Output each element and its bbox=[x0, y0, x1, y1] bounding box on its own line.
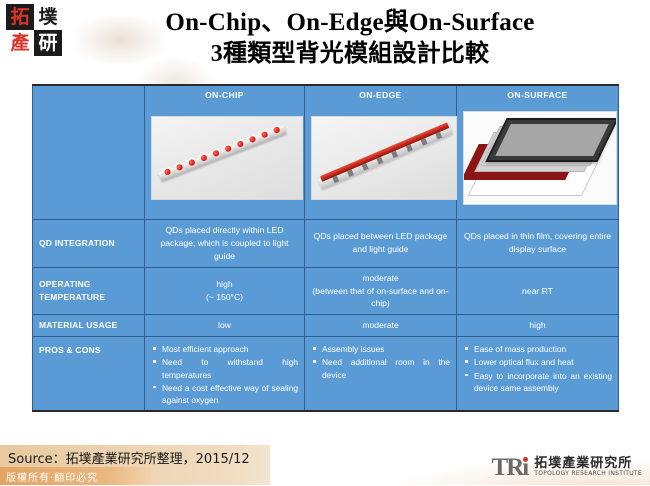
table-row-operating-temperature: OPERATING TEMPERATURE high (~ 150°C) mod… bbox=[33, 267, 619, 315]
table-row-material-usage: MATERIAL USAGE low moderate high bbox=[33, 315, 619, 337]
row-label-operating-temperature: OPERATING TEMPERATURE bbox=[33, 267, 145, 315]
bullet-list-on-surface: Ease of mass productionLower optical flu… bbox=[463, 343, 612, 394]
image-cell-on-chip bbox=[145, 104, 305, 220]
row-label-pros-cons: PROS & CONS bbox=[33, 337, 145, 411]
cell-operating-temperature-on-chip: high (~ 150°C) bbox=[145, 267, 305, 315]
bullet-item: Need a cost effective way of sealing aga… bbox=[151, 382, 298, 406]
image-cell-on-edge bbox=[305, 104, 457, 220]
tri-logo-name-en: TOPOLOGY RESEARCH INSTITUTE bbox=[534, 471, 642, 477]
row-label-qd-integration: QD INTEGRATION bbox=[33, 220, 145, 268]
corner-logo-char-1: 拓 bbox=[6, 4, 34, 30]
page-title-line-2: 3種類型背光模組設計比較 bbox=[70, 39, 630, 71]
bullet-list-on-chip: Most efficient approachNeed to withstand… bbox=[151, 343, 298, 406]
tri-footer-logo: TRi 拓墣產業研究所 TOPOLOGY RESEARCH INSTITUTE bbox=[492, 454, 642, 480]
corner-logo-char-3: 產 bbox=[6, 30, 34, 56]
tri-logo-text: 拓墣產業研究所 TOPOLOGY RESEARCH INSTITUTE bbox=[534, 457, 642, 477]
cell-operating-temperature-on-edge: moderate (between that of on-surface and… bbox=[305, 267, 457, 315]
page-title: On-Chip、On-Edge與On-Surface 3種類型背光模組設計比較 bbox=[70, 6, 630, 71]
image-cell-on-surface bbox=[457, 104, 619, 220]
cell-operating-temperature-on-surface: near RT bbox=[457, 267, 619, 315]
display-film-stack-on-surface-image bbox=[463, 111, 617, 205]
row-label-line-2: TEMPERATURE bbox=[39, 291, 138, 304]
cell-material-usage-on-surface: high bbox=[457, 315, 619, 337]
bullet-item: Most efficient approach bbox=[151, 343, 298, 355]
cell-qd-integration-on-chip: QDs placed directly within LED package, … bbox=[145, 220, 305, 268]
tri-logo-mark-text: TRi bbox=[492, 454, 528, 481]
bullet-item: Need to withstand high temperatures bbox=[151, 356, 298, 380]
header-cell-blank bbox=[33, 85, 145, 104]
cell-material-usage-on-edge: moderate bbox=[305, 315, 457, 337]
cell-pros-cons-on-chip: Most efficient approachNeed to withstand… bbox=[145, 337, 305, 411]
copyright-text: 版權所有‧翻印必究 bbox=[0, 467, 152, 486]
page-title-line-1: On-Chip、On-Edge與On-Surface bbox=[70, 6, 630, 39]
tri-logo-mark: TRi bbox=[492, 455, 528, 480]
copyright-bar: 版權所有‧翻印必究 bbox=[0, 467, 152, 485]
cell-qd-integration-on-surface: QDs placed in thin film, covering entire… bbox=[457, 220, 619, 268]
bullet-item: Lower optical flux and heat bbox=[463, 356, 612, 368]
image-row-blank-cell bbox=[33, 104, 145, 220]
cell-pros-cons-on-surface: Ease of mass productionLower optical flu… bbox=[457, 337, 619, 411]
table-row-pros-cons: PROS & CONS Most efficient approachNeed … bbox=[33, 337, 619, 411]
row-label-line-1: OPERATING bbox=[39, 278, 138, 291]
light-guide-bar-on-edge-image bbox=[311, 116, 457, 200]
header-cell-on-surface: ON-SURFACE bbox=[457, 85, 619, 104]
table-image-row bbox=[33, 104, 619, 220]
bullet-item: Easy to incorporate into an existing dev… bbox=[463, 370, 612, 394]
comparison-table: ON-CHIP ON-EDGE ON-SURFACE bbox=[32, 84, 619, 412]
cell-material-usage-on-chip: low bbox=[145, 315, 305, 337]
bullet-list-on-edge: Assembly issuesNeed additional room in t… bbox=[311, 343, 450, 381]
stack-layer-display-panel bbox=[485, 118, 617, 162]
tri-logo-name-cn: 拓墣產業研究所 bbox=[534, 457, 642, 471]
header-cell-on-edge: ON-EDGE bbox=[305, 85, 457, 104]
row-label-material-usage: MATERIAL USAGE bbox=[33, 315, 145, 337]
header-cell-on-chip: ON-CHIP bbox=[145, 85, 305, 104]
tri-corner-logo: 拓 墣 產 研 bbox=[6, 4, 62, 56]
table-header-row: ON-CHIP ON-EDGE ON-SURFACE bbox=[33, 85, 619, 104]
cell-pros-cons-on-edge: Assembly issuesNeed additional room in t… bbox=[305, 337, 457, 411]
tri-logo-dot-icon bbox=[523, 457, 528, 462]
bullet-item: Ease of mass production bbox=[463, 343, 612, 355]
corner-logo-char-4: 研 bbox=[34, 30, 62, 56]
corner-logo-char-2: 墣 bbox=[34, 4, 62, 30]
bullet-item: Need additional room in the device bbox=[311, 356, 450, 380]
table-row-qd-integration: QD INTEGRATION QDs placed directly withi… bbox=[33, 220, 619, 268]
source-note: Source：拓墣產業研究所整理，2015/12 bbox=[8, 448, 250, 467]
led-strip-shape bbox=[158, 125, 286, 181]
light-guide-red-shape bbox=[320, 122, 449, 181]
led-strip-on-chip-image bbox=[151, 116, 303, 200]
cell-qd-integration-on-edge: QDs placed between LED package and light… bbox=[305, 220, 457, 268]
bullet-item: Assembly issues bbox=[311, 343, 450, 355]
